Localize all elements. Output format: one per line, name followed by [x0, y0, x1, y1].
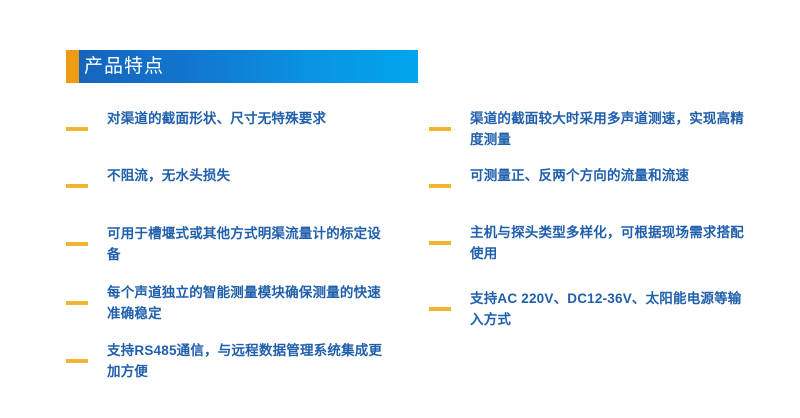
feature-text: 每个声道独立的智能测量模块确保测量的快速准确稳定 — [107, 282, 386, 324]
dash-bullet-icon — [429, 241, 451, 245]
dash-bullet-icon — [429, 127, 451, 131]
list-item: 渠道的截面较大时采用多声道测速，实现高精度测量 — [429, 108, 749, 150]
header-accent-block — [66, 50, 79, 83]
dash-bullet-icon — [66, 242, 88, 246]
feature-text: 不阻流，无水头损失 — [107, 165, 386, 186]
dash-bullet-icon — [66, 359, 88, 363]
feature-text: 可用于槽堰式或其他方式明渠流量计的标定设备 — [107, 223, 386, 265]
feature-text: 支持RS485通信，与远程数据管理系统集成更加方便 — [107, 340, 386, 382]
list-item: 支持RS485通信，与远程数据管理系统集成更加方便 — [66, 340, 386, 382]
list-item: 支持AC 220V、DC12-36V、太阳能电源等输入方式 — [429, 288, 749, 330]
feature-text: 主机与探头类型多样化，可根据现场需求搭配使用 — [470, 222, 749, 264]
dash-bullet-icon — [66, 127, 88, 131]
feature-text: 支持AC 220V、DC12-36V、太阳能电源等输入方式 — [470, 288, 749, 330]
section-header-banner: 产品特点 — [66, 50, 418, 83]
feature-text: 对渠道的截面形状、尺寸无特殊要求 — [107, 108, 386, 129]
feature-text: 可测量正、反两个方向的流量和流速 — [470, 165, 749, 186]
list-item: 不阻流，无水头损失 — [66, 165, 386, 188]
list-item: 对渠道的截面形状、尺寸无特殊要求 — [66, 108, 386, 131]
list-item: 主机与探头类型多样化，可根据现场需求搭配使用 — [429, 222, 749, 264]
list-item: 可测量正、反两个方向的流量和流速 — [429, 165, 749, 188]
dash-bullet-icon — [429, 307, 451, 311]
slide-root: 产品特点 对渠道的截面形状、尺寸无特殊要求 不阻流，无水头损失 可用于槽堰式或其… — [0, 0, 800, 418]
dash-bullet-icon — [429, 184, 451, 188]
list-item: 可用于槽堰式或其他方式明渠流量计的标定设备 — [66, 223, 386, 265]
dash-bullet-icon — [66, 301, 88, 305]
feature-text: 渠道的截面较大时采用多声道测速，实现高精度测量 — [470, 108, 749, 150]
dash-bullet-icon — [66, 184, 88, 188]
page-title: 产品特点 — [79, 57, 164, 76]
header-gradient-bar: 产品特点 — [79, 50, 418, 83]
list-item: 每个声道独立的智能测量模块确保测量的快速准确稳定 — [66, 282, 386, 324]
